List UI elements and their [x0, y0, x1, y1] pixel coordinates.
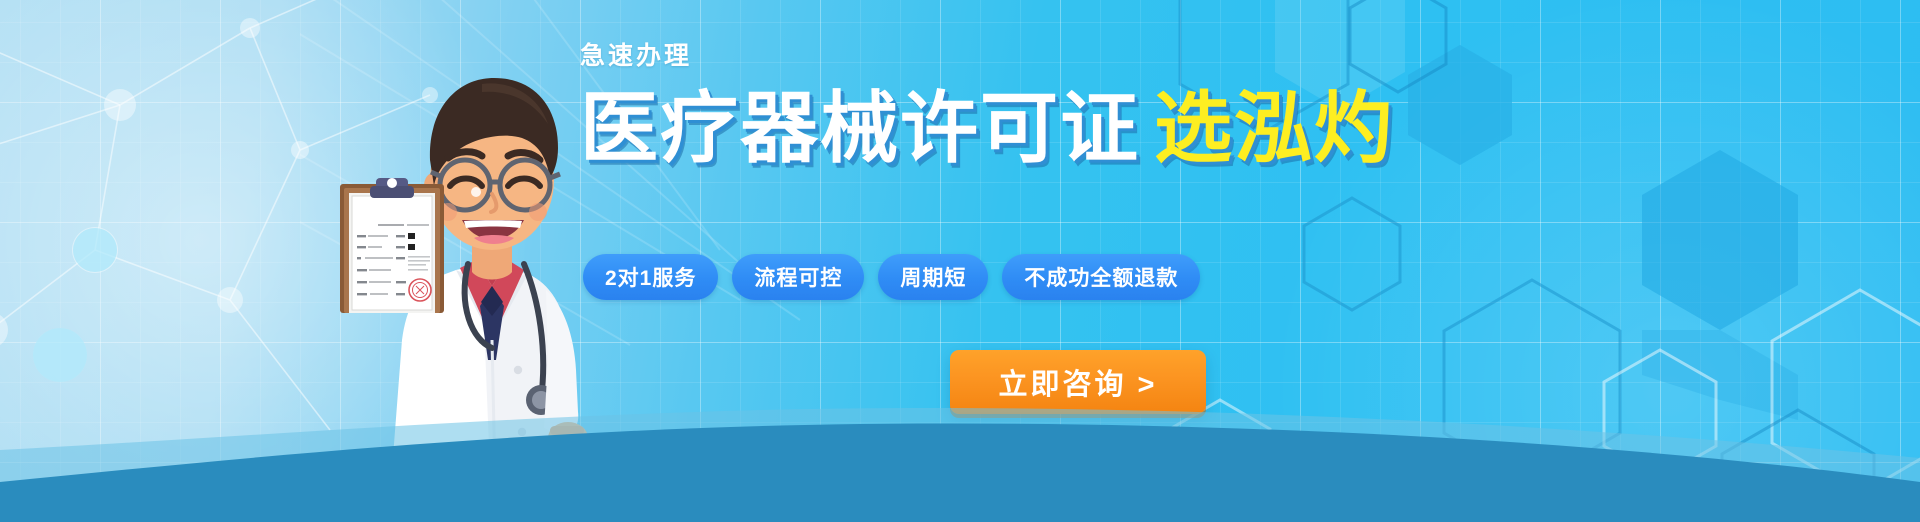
feature-pill-1[interactable]: 2对1服务 — [583, 254, 718, 300]
feature-pill-4[interactable]: 不成功全额退款 — [1002, 254, 1200, 300]
clipboard-icon — [332, 168, 452, 313]
headline: 医疗器械许可证 选泓灼 — [580, 90, 1340, 168]
promo-banner: 急速办理 医疗器械许可证 选泓灼 2对1服务 流程可控 周期短 不成功全额退款 … — [0, 0, 1920, 522]
headline-accent-text: 选泓灼 — [1154, 90, 1394, 168]
feature-pill-2[interactable]: 流程可控 — [732, 254, 864, 300]
red-stamp-icon — [409, 279, 431, 301]
headline-block: 急速办理 医疗器械许可证 选泓灼 — [580, 44, 1340, 168]
feature-pill-list: 2对1服务 流程可控 周期短 不成功全额退款 — [583, 254, 1200, 300]
feature-pill-3[interactable]: 周期短 — [878, 254, 988, 300]
wave-shape-icon — [0, 332, 1920, 522]
eyebrow-text: 急速办理 — [580, 44, 1340, 69]
headline-main-text: 医疗器械许可证 — [580, 90, 1140, 168]
